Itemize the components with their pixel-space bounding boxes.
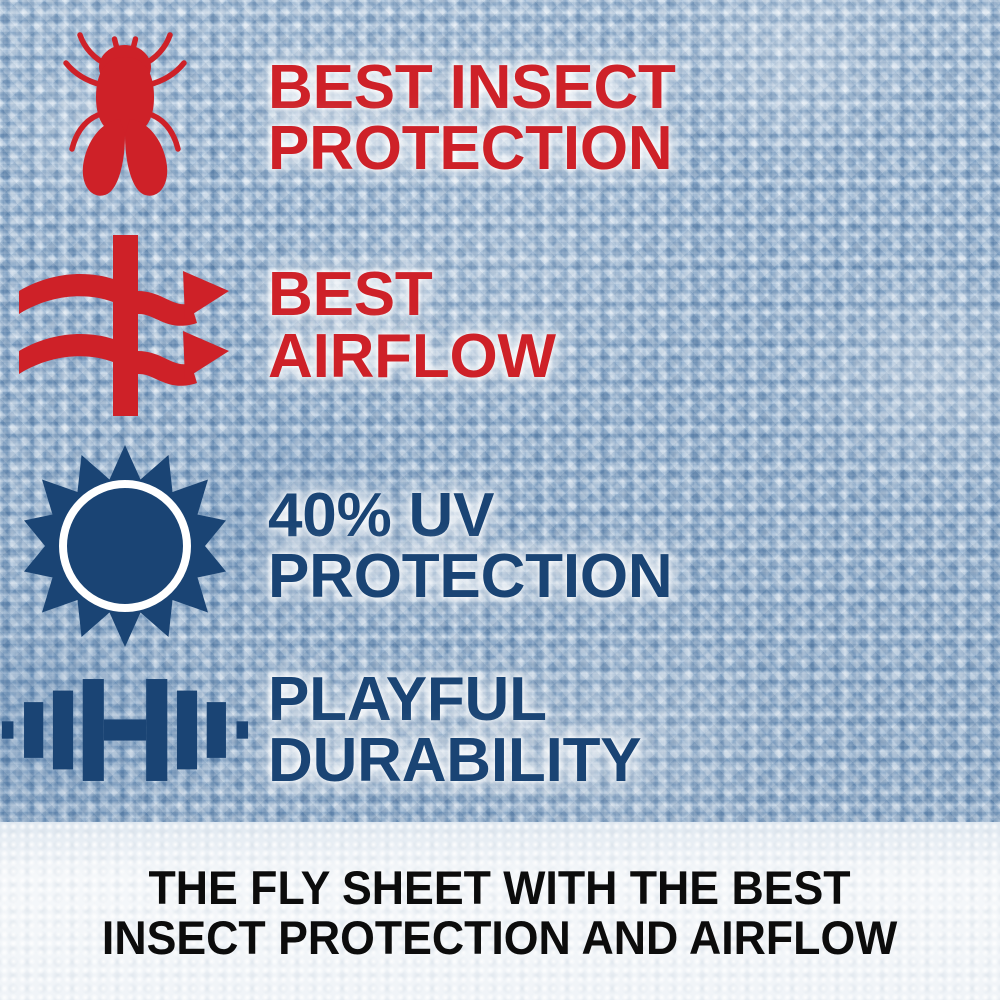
feature-title-line-1: 40% UV: [268, 485, 1000, 546]
bottom-caption-bar: THE FLY SHEET WITH THE BEST INSECT PROTE…: [0, 822, 1000, 1000]
feature-icon-cell: [0, 233, 250, 418]
feature-list: BEST INSECT PROTECTION: [0, 0, 1000, 822]
feature-title-line-1: BEST INSECT: [268, 57, 1000, 118]
dumbbell-icon: [0, 665, 250, 795]
fly-icon: [50, 23, 200, 213]
sun-uv-icon: [22, 443, 228, 649]
feature-text-cell: PLAYFUL DURABILITY: [250, 669, 1000, 792]
feature-row-durability: PLAYFUL DURABILITY: [0, 650, 1000, 810]
feature-title-line-1: PLAYFUL: [268, 669, 1000, 730]
feature-text-cell: 40% UV PROTECTION: [250, 485, 1000, 608]
feature-row-airflow: BEST AIRFLOW: [0, 228, 1000, 423]
feature-row-insect-protection: BEST INSECT PROTECTION: [0, 18, 1000, 218]
feature-icon-cell: [0, 23, 250, 213]
feature-title-line-2: DURABILITY: [268, 730, 1000, 791]
feature-icon-cell: [0, 665, 250, 795]
feature-title-line-1: BEST: [268, 264, 1000, 325]
feature-title-line-2: AIRFLOW: [268, 326, 1000, 387]
caption-line-1: THE FLY SHEET WITH THE BEST: [149, 863, 851, 913]
feature-title-line-2: PROTECTION: [268, 118, 1000, 179]
product-feature-infographic: BEST INSECT PROTECTION: [0, 0, 1000, 1000]
feature-text-cell: BEST INSECT PROTECTION: [250, 57, 1000, 180]
airflow-icon: [13, 233, 237, 418]
feature-row-uv-protection: 40% UV PROTECTION: [0, 440, 1000, 652]
caption-line-2: INSECT PROTECTION AND AIRFLOW: [102, 913, 897, 963]
feature-icon-cell: [0, 443, 250, 649]
feature-title-line-2: PROTECTION: [268, 546, 1000, 607]
feature-text-cell: BEST AIRFLOW: [250, 264, 1000, 387]
